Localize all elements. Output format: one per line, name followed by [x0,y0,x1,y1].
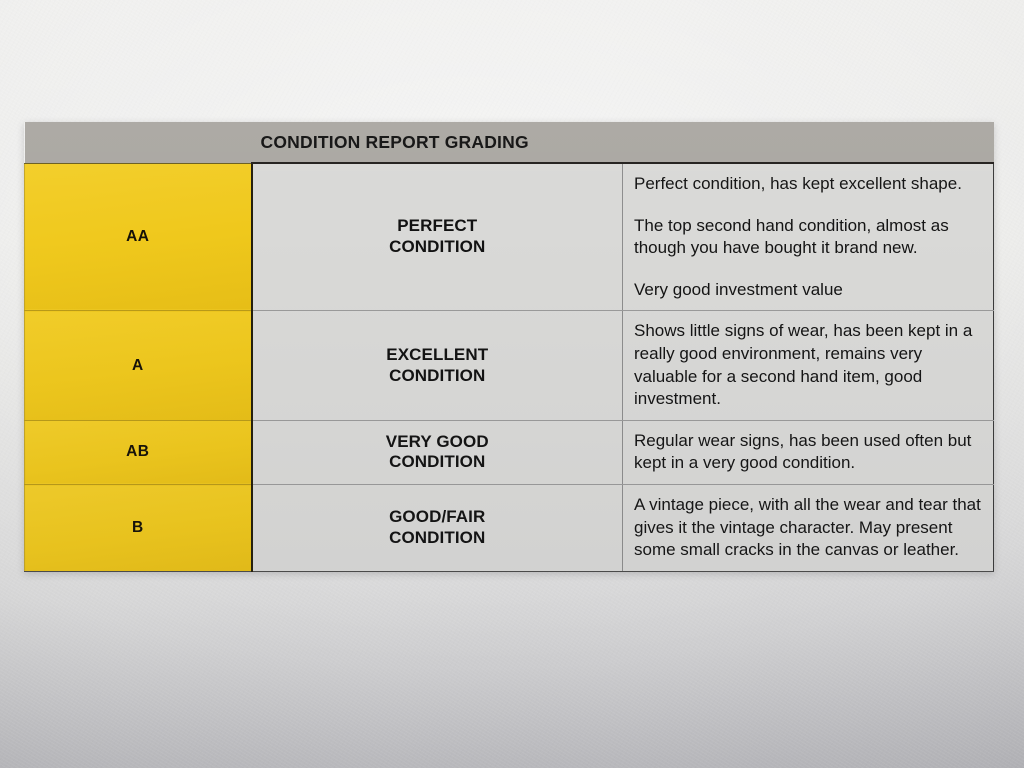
description-paragraph: Shows little signs of wear, has been kep… [634,320,983,410]
table-header: CONDITION REPORT GRADING [25,122,994,163]
grade-label-ab: AB [25,420,252,484]
condition-label-ab: VERY GOOD CONDITION [252,420,623,484]
description-b: A vintage piece, with all the wear and t… [623,485,994,572]
condition-line-2: CONDITION [389,366,485,385]
condition-label-b: GOOD/FAIR CONDITION [252,485,623,572]
table-row: B GOOD/FAIR CONDITION A vintage piece, w… [25,485,994,572]
description-aa: Perfect condition, has kept excellent sh… [623,163,994,311]
condition-label-a: EXCELLENT CONDITION [252,311,623,420]
condition-line-2: CONDITION [389,237,485,256]
condition-line-1: VERY GOOD [386,432,489,451]
description-paragraph: Regular wear signs, has been used often … [634,430,983,475]
description-ab: Regular wear signs, has been used often … [623,420,994,484]
description-paragraph: A vintage piece, with all the wear and t… [634,494,983,562]
condition-report-grading-table: CONDITION REPORT GRADING AA PERFECT COND… [24,122,994,572]
grade-label-aa: AA [25,163,252,311]
page-title: CONDITION REPORT GRADING [252,122,994,163]
table-title-row: CONDITION REPORT GRADING [25,122,994,163]
table-row: AA PERFECT CONDITION Perfect condition, … [25,163,994,311]
description-a: Shows little signs of wear, has been kep… [623,311,994,420]
condition-line-1: EXCELLENT [386,345,488,364]
table-row: AB VERY GOOD CONDITION Regular wear sign… [25,420,994,484]
title-row-spacer [25,122,252,163]
table-row: A EXCELLENT CONDITION Shows little signs… [25,311,994,420]
condition-label-aa: PERFECT CONDITION [252,163,623,311]
description-paragraph: Very good investment value [634,279,983,302]
condition-line-2: CONDITION [389,528,485,547]
grade-label-b: B [25,485,252,572]
table-body: AA PERFECT CONDITION Perfect condition, … [25,163,994,571]
condition-line-2: CONDITION [389,452,485,471]
description-paragraph: The top second hand condition, almost as… [634,215,983,260]
condition-line-1: GOOD/FAIR [389,507,485,526]
condition-line-1: PERFECT [397,216,477,235]
description-paragraph: Perfect condition, has kept excellent sh… [634,173,983,196]
grade-label-a: A [25,311,252,420]
